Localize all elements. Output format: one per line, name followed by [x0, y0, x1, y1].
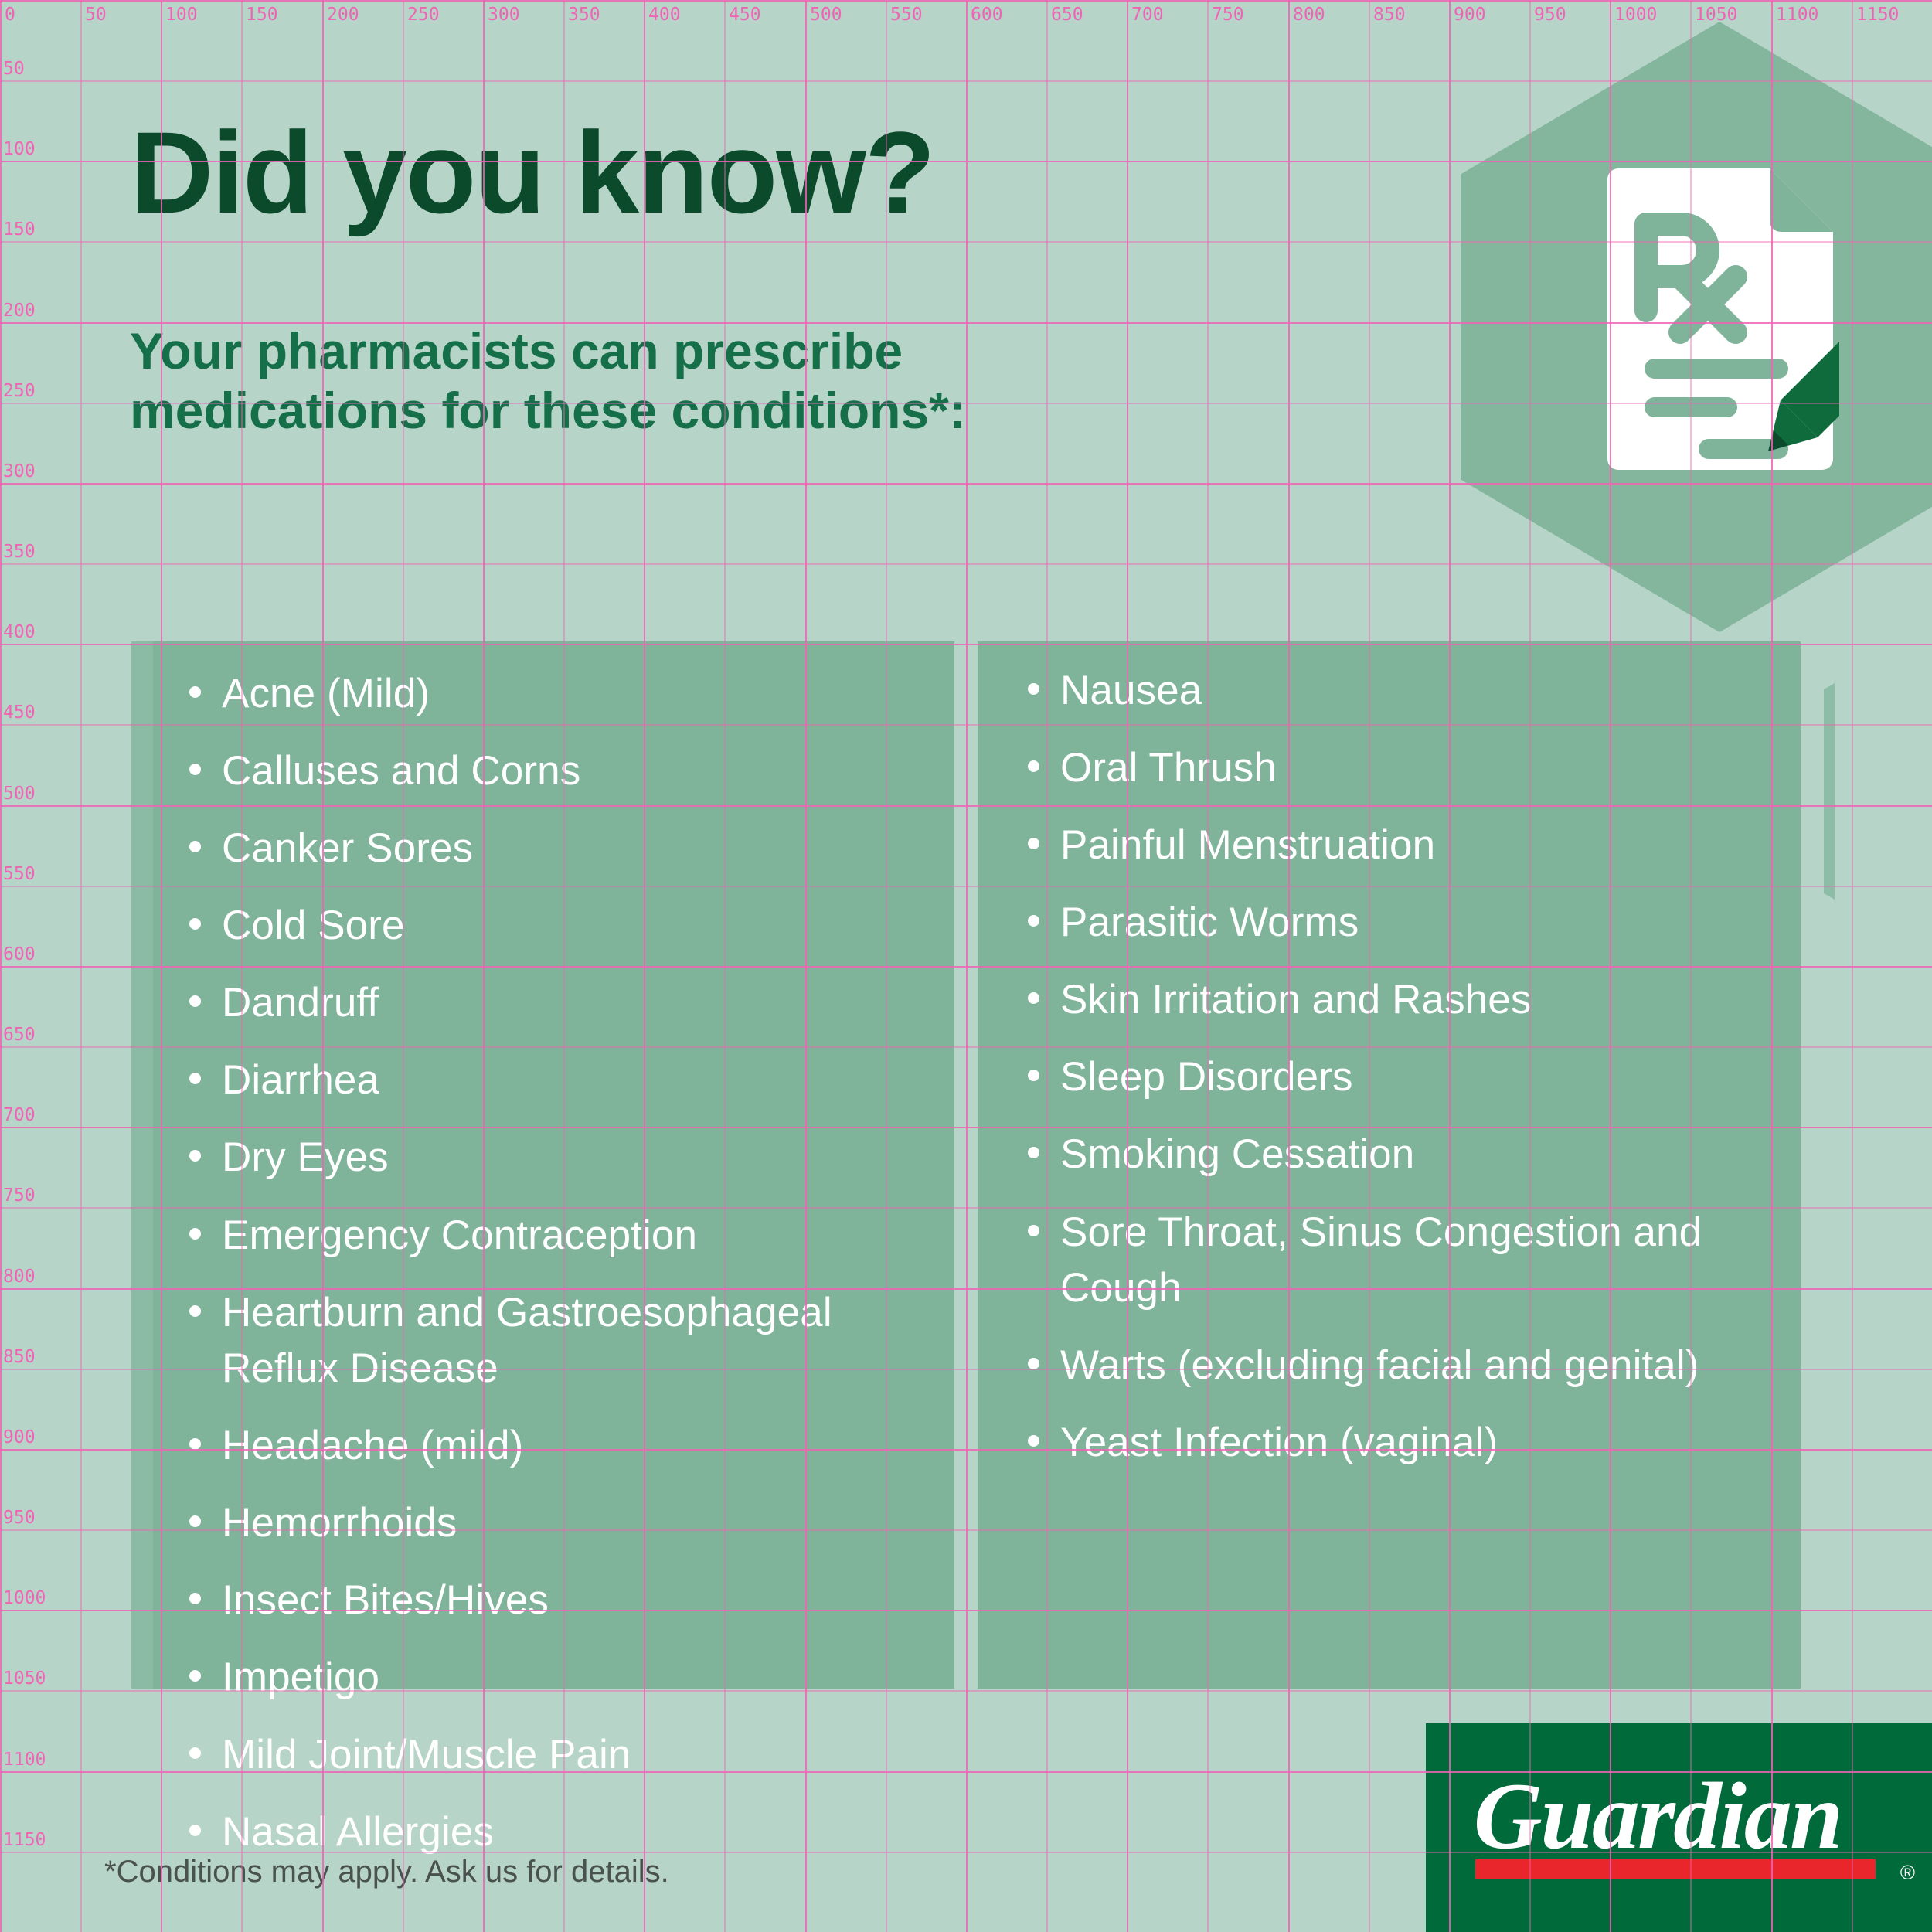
grid-label-top: 1100: [1776, 6, 1818, 24]
grid-line-horizontal: [0, 0, 1932, 2]
grid-label-left: 200: [3, 302, 36, 320]
grid-label-left: 1050: [3, 1670, 46, 1688]
grid-label-left: 550: [3, 866, 36, 883]
grid-label-top: 600: [971, 6, 1003, 24]
condition-list-item: Warts (excluding facial and genital): [1028, 1338, 1801, 1393]
grid-label-left: 250: [3, 383, 36, 400]
grid-label-top: 1050: [1695, 6, 1737, 24]
grid-label-top: 900: [1454, 6, 1486, 24]
condition-list-item: Sleep Disorders: [1028, 1049, 1801, 1105]
condition-list-item: Insect Bites/Hives: [189, 1573, 947, 1628]
condition-list-item: Cold Sore: [189, 898, 947, 954]
grid-label-top: 1000: [1614, 6, 1657, 24]
grid-label-top: 400: [648, 6, 681, 24]
condition-list-item: Dry Eyes: [189, 1130, 947, 1185]
registered-trademark-icon: ®: [1900, 1862, 1915, 1883]
grid-label-left: 150: [3, 221, 36, 239]
conditions-list-left: Acne (Mild)Calluses and CornsCanker Sore…: [189, 666, 947, 1882]
grid-label-top: 500: [810, 6, 842, 24]
grid-label-top: 350: [568, 6, 600, 24]
guardian-wordmark: Guardian: [1473, 1768, 1842, 1863]
grid-line-vertical: [80, 0, 82, 1932]
hexagon-outline-decoration: [1824, 587, 1932, 995]
grid-label-left: 350: [3, 543, 36, 561]
logo-red-underline: [1475, 1859, 1876, 1879]
grid-label-top: 1150: [1856, 6, 1899, 24]
grid-label-top: 550: [890, 6, 923, 24]
grid-label-top: 100: [165, 6, 198, 24]
condition-list-item: Mild Joint/Muscle Pain: [189, 1727, 947, 1783]
grid-label-top: 300: [488, 6, 520, 24]
grid-label-left: 300: [3, 463, 36, 481]
grid-label-top: 750: [1212, 6, 1244, 24]
grid-label-top: 250: [407, 6, 440, 24]
grid-label-left: 100: [3, 141, 36, 158]
infographic-canvas: Did you know? Your pharmacists can presc…: [0, 0, 1932, 1932]
header-block: Did you know? Your pharmacists can presc…: [130, 114, 1444, 440]
condition-list-item: Painful Menstruation: [1028, 818, 1801, 873]
footnote-disclaimer: *Conditions may apply. Ask us for detail…: [104, 1855, 669, 1889]
conditions-list-right: NauseaOral ThrushPainful MenstruationPar…: [1028, 663, 1801, 1492]
condition-list-item: Parasitic Worms: [1028, 895, 1801, 951]
condition-list-item: Skin Irritation and Rashes: [1028, 972, 1801, 1028]
grid-label-left: 400: [3, 624, 36, 641]
page-title: Did you know?: [130, 114, 1444, 230]
grid-label-left: 1150: [3, 1832, 46, 1849]
grid-label-top: 850: [1373, 6, 1406, 24]
grid-label-top: 950: [1534, 6, 1566, 24]
grid-label-left: 450: [3, 704, 36, 722]
grid-label-top: 150: [246, 6, 278, 24]
condition-list-item: Calluses and Corns: [189, 743, 947, 799]
grid-label-top: 700: [1131, 6, 1164, 24]
condition-list-item: Nasal Allergies: [189, 1804, 947, 1860]
grid-label-left: 1100: [3, 1751, 46, 1769]
condition-list-item: Emergency Contraception: [189, 1208, 947, 1264]
panel-left-edge-stripe: [131, 641, 153, 1689]
grid-label-left: 950: [3, 1509, 36, 1527]
grid-label-top: 200: [327, 6, 359, 24]
condition-list-item: Sore Throat, Sinus Congestion and Cough: [1028, 1205, 1801, 1316]
page-subtitle: Your pharmacists can prescribe medicatio…: [130, 321, 1250, 440]
grid-line-vertical: [0, 0, 2, 1932]
grid-label-left: 750: [3, 1187, 36, 1205]
grid-label-left: 800: [3, 1268, 36, 1286]
grid-label-top: 0: [5, 6, 15, 24]
grid-label-top: 650: [1051, 6, 1083, 24]
condition-list-item: Yeast Infection (vaginal): [1028, 1415, 1801, 1471]
prescription-document-icon: [1600, 168, 1839, 470]
condition-list-item: Impetigo: [189, 1650, 947, 1706]
subtitle-line-1: Your pharmacists can prescribe: [130, 322, 903, 379]
grid-label-top: 50: [85, 6, 107, 24]
condition-list-item: Oral Thrush: [1028, 740, 1801, 796]
grid-label-left: 850: [3, 1349, 36, 1366]
condition-list-item: Nausea: [1028, 663, 1801, 719]
condition-list-item: Diarrhea: [189, 1053, 947, 1108]
grid-label-left: 600: [3, 946, 36, 964]
grid-label-top: 450: [729, 6, 761, 24]
grid-label-left: 500: [3, 785, 36, 803]
condition-list-item: Hemorrhoids: [189, 1495, 947, 1551]
condition-list-item: Smoking Cessation: [1028, 1127, 1801, 1182]
condition-list-item: Heartburn and Gastroesophageal Reflux Di…: [189, 1285, 947, 1396]
subtitle-line-2: medications for these conditions*:: [130, 382, 966, 439]
grid-label-left: 1000: [3, 1590, 46, 1607]
grid-label-left: 50: [3, 60, 25, 78]
condition-list-item: Dandruff: [189, 975, 947, 1031]
grid-label-left: 900: [3, 1429, 36, 1447]
condition-list-item: Headache (mild): [189, 1418, 947, 1474]
condition-list-item: Acne (Mild): [189, 666, 947, 722]
grid-label-left: 650: [3, 1026, 36, 1044]
grid-label-top: 800: [1293, 6, 1325, 24]
grid-label-left: 700: [3, 1107, 36, 1124]
guardian-logo: Guardian ®: [1426, 1723, 1932, 1932]
condition-list-item: Canker Sores: [189, 821, 947, 876]
